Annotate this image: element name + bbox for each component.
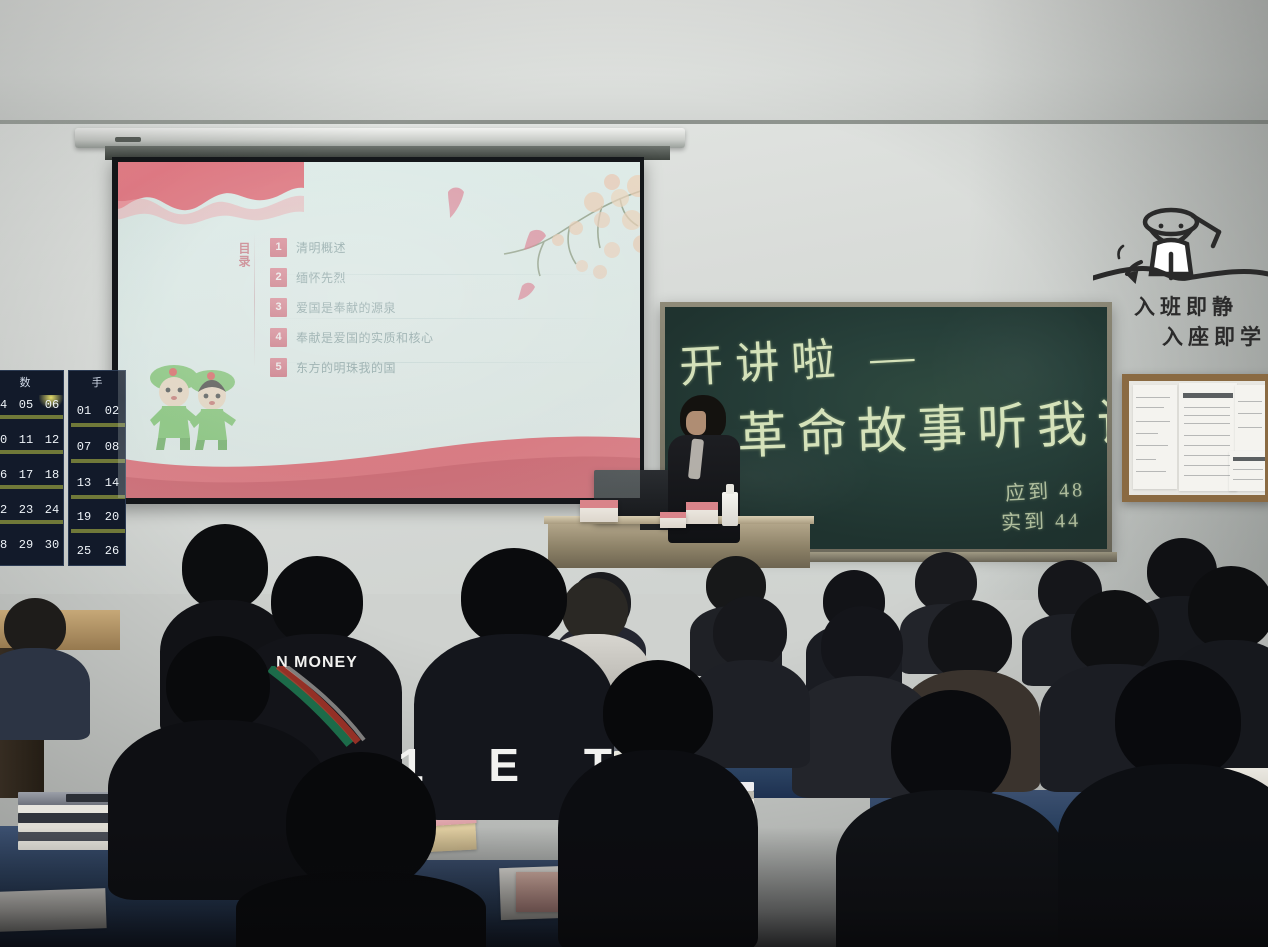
pocket-cell: 25 <box>71 541 97 561</box>
pocket-chart-header-left: 数 <box>0 371 63 393</box>
blackboard-headline-1: 开讲啦 — <box>677 319 927 396</box>
classroom-photo: 数 04 05 06 10 11 12 16 17 18 22 23 24 28… <box>0 0 1268 947</box>
bulletin-heading-bar <box>1183 393 1233 398</box>
pocket-cell: 14 <box>99 473 125 493</box>
wall-decal-line1: 入班即静 <box>1134 292 1266 322</box>
slide-toc-label: 清明概述 <box>296 239 346 256</box>
pocket-cell: 11 <box>13 430 39 450</box>
slide-toc-number: 3 <box>270 298 287 317</box>
pocket-cell: 22 <box>0 500 13 520</box>
pocket-cell: 18 <box>39 465 65 485</box>
presenter-face <box>686 411 706 435</box>
podium-tissue-box <box>580 500 618 522</box>
slide-toc-label: 奉献是爱国的实质和核心 <box>296 329 434 346</box>
wall-decal-line2: 入座即学 <box>1134 322 1266 352</box>
pocket-cell: 23 <box>13 500 39 520</box>
bulletin-paper <box>1133 385 1177 489</box>
slide-cartoon-soldiers <box>142 358 250 450</box>
pocket-cell: 04 <box>0 395 13 415</box>
slide-toc-item: 1 清明概述 <box>270 232 620 262</box>
bulletin-paper <box>1235 385 1265 451</box>
wall-pocket-chart: 数 04 05 06 10 11 12 16 17 18 22 23 24 28… <box>0 370 102 580</box>
projector-screen: 目录 1 清明概述 2 缅怀先烈 3 爱国是奉献的源泉 <box>112 157 644 504</box>
student-edge-left <box>0 598 90 738</box>
bulletin-board <box>1122 374 1268 502</box>
podium-supply-box <box>686 502 718 524</box>
bulletin-board-inner <box>1129 381 1265 495</box>
blackboard-attendance-actual: 实到 44 <box>1001 504 1082 536</box>
slide-toc-number: 5 <box>270 358 287 377</box>
slide-toc-number: 1 <box>270 238 287 257</box>
slide-toc-number: 4 <box>270 328 287 347</box>
textbook-page-graphic <box>516 872 560 912</box>
pocket-cell: 12 <box>39 430 65 450</box>
pocket-cell: 16 <box>0 465 13 485</box>
slide-toc-list: 1 清明概述 2 缅怀先烈 3 爱国是奉献的源泉 4 奉献是爱国的实质和核心 <box>270 232 620 382</box>
slide-toc-heading: 目录 <box>230 242 250 268</box>
slide-toc-label: 东方的明珠我的国 <box>296 359 396 376</box>
student-front-center <box>558 660 758 947</box>
pocket-cell: 28 <box>0 535 13 555</box>
slide-mountain-decoration <box>118 162 304 238</box>
slide-toc-label: 缅怀先烈 <box>296 269 346 286</box>
pocket-chart-column-right: 手 01 02 07 08 13 14 19 20 25 26 <box>68 370 126 566</box>
student-foreground-far-right <box>1058 660 1268 947</box>
pocket-cell: 13 <box>71 473 97 493</box>
pocket-cell: 19 <box>71 507 97 527</box>
pocket-cell: 30 <box>39 535 65 555</box>
slide-toc-label: 爱国是奉献的源泉 <box>296 299 396 316</box>
pocket-cell: 24 <box>39 500 65 520</box>
pocket-cell: 10 <box>0 430 13 450</box>
pocket-cell: 02 <box>99 401 125 421</box>
slide-toc-item: 5 东方的明珠我的国 <box>270 352 620 382</box>
blackboard-headline-2: 革命故事听我讲 <box>736 382 1107 469</box>
bulletin-heading-bar <box>1233 457 1265 461</box>
pocket-cell: 05 <box>13 395 39 415</box>
blackboard-attendance-expected: 应到 48 <box>1004 473 1085 506</box>
pocket-cell: 17 <box>13 465 39 485</box>
student-foreground-left <box>236 752 486 947</box>
projector-screen-roller <box>75 128 685 148</box>
pocket-cell: 06 <box>39 395 65 415</box>
pocket-cell: 26 <box>99 541 125 561</box>
slide-toc-item: 3 爱国是奉献的源泉 <box>270 292 620 322</box>
slide-toc-divider <box>254 232 255 367</box>
podium-small-box <box>660 512 686 528</box>
hand-sanitizer-bottle <box>722 492 738 526</box>
slide-toc-number: 2 <box>270 268 287 287</box>
pocket-cell: 29 <box>13 535 39 555</box>
pocket-cell: 08 <box>99 437 125 457</box>
slide-toc-item: 4 奉献是爱国的实质和核心 <box>270 322 620 352</box>
pocket-chart-column-left: 数 04 05 06 10 11 12 16 17 18 22 23 24 28… <box>0 370 64 566</box>
pocket-cell: 20 <box>99 507 125 527</box>
slide-toc-item: 2 缅怀先烈 <box>270 262 620 292</box>
pocket-cell: 01 <box>71 401 97 421</box>
pocket-cell: 07 <box>71 437 97 457</box>
student-foreground-right <box>836 690 1066 947</box>
pocket-chart-header-right: 手 <box>69 371 125 393</box>
wall-decal-text: 入班即静 入座即学 <box>1134 292 1266 352</box>
paper-left-desk <box>0 888 107 932</box>
presentation-slide: 目录 1 清明概述 2 缅怀先烈 3 爱国是奉献的源泉 <box>118 162 640 498</box>
